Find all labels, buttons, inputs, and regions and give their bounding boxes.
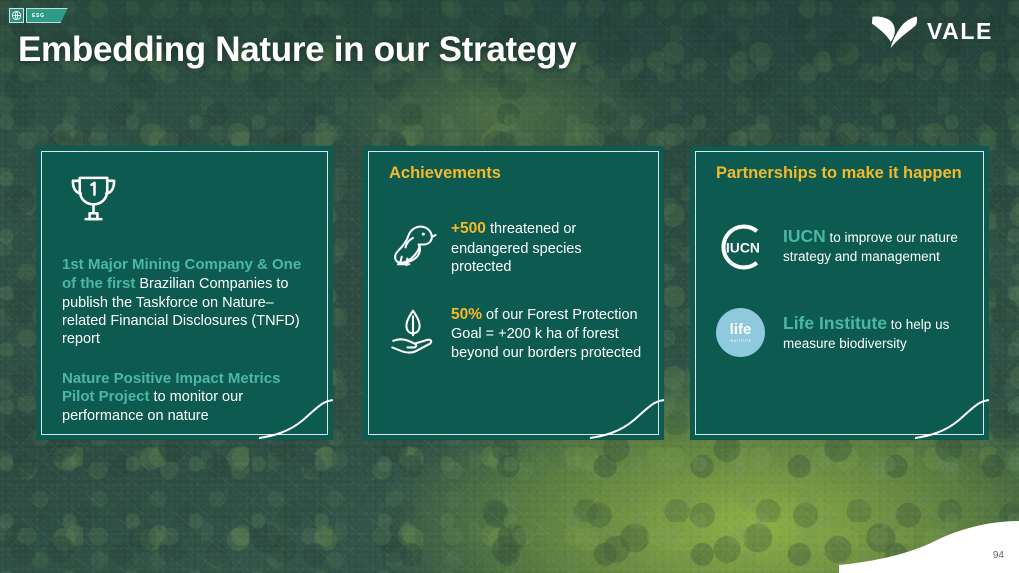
card-slot-partnerships: Partnerships to make it happen IUCN IUCN… <box>690 146 989 440</box>
card-firsts-content: 1st Major Mining Company & One of the fi… <box>62 164 313 426</box>
esg-badge: ESG <box>9 8 68 23</box>
iucn-logo: IUCN <box>716 221 770 278</box>
achievements-heading: Achievements <box>389 164 644 183</box>
achievement-value-forest: 50% <box>451 306 482 323</box>
achievement-row-species: +500 threatened or endangered species pr… <box>389 217 644 277</box>
life-logo-subtext: INSTITUTE <box>729 339 751 343</box>
esg-globe-icon <box>9 8 24 23</box>
life-institute-logo: life INSTITUTE <box>716 308 770 357</box>
achievement-value-species: +500 <box>451 220 486 237</box>
firsts-text-2: Nature Positive Impact Metrics Pilot Pro… <box>62 370 313 426</box>
vale-v-mark-icon <box>871 13 918 50</box>
partner-text-life-institute: Life Institute to help us measure biodiv… <box>783 308 969 352</box>
card-achievements-content: Achievements <box>389 164 644 363</box>
partner-row-iucn: IUCN IUCN to improve our nature strategy… <box>716 221 969 278</box>
life-circle-icon: life INSTITUTE <box>716 308 765 357</box>
iucn-ring-icon: IUCN <box>716 221 768 273</box>
card-partnerships-content: Partnerships to make it happen IUCN IUCN… <box>716 164 969 357</box>
partner-row-life-institute: life INSTITUTE Life Institute to help us… <box>716 308 969 357</box>
slide-canvas: ESG VALE Embedding Nature in our Strateg… <box>0 0 1019 573</box>
firsts-block-2: Nature Positive Impact Metrics Pilot Pro… <box>62 370 313 426</box>
firsts-block-1: 1st Major Mining Company & One of the fi… <box>62 256 313 349</box>
svg-text:IUCN: IUCN <box>726 240 760 256</box>
card-firsts: 1st Major Mining Company & One of the fi… <box>36 146 333 440</box>
page-number: 94 <box>993 550 1004 561</box>
leaf-in-hand-icon <box>389 303 437 359</box>
achievement-row-forest: 50% of our Forest Protection Goal = +200… <box>389 303 644 363</box>
card-partnerships: Partnerships to make it happen IUCN IUCN… <box>690 146 989 440</box>
partner-name-life-institute: Life Institute <box>783 313 887 333</box>
achievement-text-species: +500 threatened or endangered species pr… <box>451 217 644 277</box>
bottom-corner-swoosh <box>839 503 1019 573</box>
life-logo-text: life <box>730 322 752 337</box>
card-achievements: Achievements <box>363 146 664 440</box>
firsts-text-1: 1st Major Mining Company & One of the fi… <box>62 256 313 349</box>
card-slot-achievements: Achievements <box>363 146 664 440</box>
partnerships-heading: Partnerships to make it happen <box>716 164 969 183</box>
page-title: Embedding Nature in our Strategy <box>18 30 576 70</box>
esg-tag: ESG <box>26 8 68 23</box>
card-corner-swoosh <box>590 398 664 440</box>
card-corner-swoosh <box>915 398 989 440</box>
card-slot-firsts: 1st Major Mining Company & One of the fi… <box>36 146 333 440</box>
vale-logo: VALE <box>871 13 993 50</box>
partner-name-iucn: IUCN <box>783 226 826 246</box>
esg-tag-label: ESG <box>32 13 45 19</box>
cards-row: 1st Major Mining Company & One of the fi… <box>0 146 1019 440</box>
vale-wordmark: VALE <box>927 18 993 45</box>
parrot-icon <box>389 217 437 273</box>
achievement-text-forest: 50% of our Forest Protection Goal = +200… <box>451 303 644 363</box>
trophy-icon <box>66 172 121 225</box>
partner-text-iucn: IUCN to improve our nature strategy and … <box>783 221 969 265</box>
